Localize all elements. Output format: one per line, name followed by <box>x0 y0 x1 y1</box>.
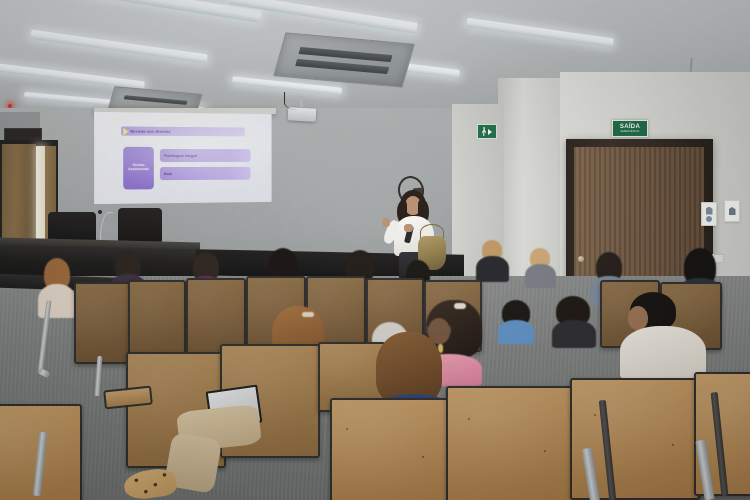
slide-side-box: Direitos Assistenciais <box>123 147 154 190</box>
seat-screw <box>672 444 674 446</box>
chevron-right-icon <box>123 127 128 135</box>
attendee-torso <box>525 264 556 288</box>
slide-title-bar: Revisão dos Direitos <box>121 126 245 136</box>
seat-screw <box>594 414 596 416</box>
seat-back-1[interactable] <box>74 282 130 364</box>
attendee-17 <box>552 296 600 348</box>
attendee-16-face <box>628 306 648 330</box>
attendee-1 <box>36 258 78 318</box>
presenter-left-hand <box>382 218 390 227</box>
attendee-12-body <box>498 320 534 344</box>
exit-sign-saida: SAÍDA EMERGÊNCIA <box>612 120 648 137</box>
seat-screw <box>468 418 470 420</box>
panel-chair-2 <box>118 208 162 242</box>
arrow-right-icon <box>488 129 492 135</box>
seat-screw <box>422 456 424 458</box>
presenter-right-hand <box>404 224 413 232</box>
seat-front-2[interactable] <box>330 398 452 500</box>
exit-sign-sublabel: EMERGÊNCIA <box>621 130 640 133</box>
slide-title: Revisão dos Direitos <box>130 129 170 133</box>
seat-back-2[interactable] <box>128 280 186 362</box>
attendee-torso <box>476 256 509 282</box>
microphone-head-icon <box>98 210 102 214</box>
wall-notice-1 <box>701 202 717 226</box>
seat-screw <box>544 450 546 452</box>
attendee-16 <box>620 292 710 380</box>
attendee-16-body <box>620 326 706 380</box>
attendee-seated-right-far <box>476 240 510 280</box>
seat-front-3[interactable] <box>446 386 576 500</box>
slide-side-box-label: Direitos Assistenciais <box>123 164 154 172</box>
running-man-icon <box>482 127 487 136</box>
projector-cable <box>284 92 307 110</box>
attendee-9-hairclip <box>302 312 314 317</box>
slide-bar-2: Rede <box>160 167 251 180</box>
seat-screw <box>346 428 348 430</box>
information-notice-icon <box>729 207 736 215</box>
slide-bar-1-label: Planilhagem Integral <box>164 153 197 157</box>
projection-screen: Revisão dos Direitos Direitos Assistenci… <box>94 112 271 204</box>
information-notice-icon <box>706 207 713 215</box>
door-knob-icon[interactable] <box>578 256 584 262</box>
attendee-seated-right-far-2 <box>525 248 557 284</box>
exit-sign-running-man <box>477 124 497 139</box>
attendee-17-body <box>552 320 596 348</box>
attendee-1-body <box>38 284 76 318</box>
auditorium-photo: Revisão dos Direitos Direitos Assistenci… <box>0 0 750 500</box>
attendee-11-hairtie <box>454 303 466 309</box>
slide-bar-2-label: Rede <box>164 172 172 176</box>
notice-badge-icon <box>706 216 712 222</box>
attendee-12 <box>498 300 538 344</box>
wall-notice-2 <box>724 200 740 222</box>
slide-bar-1: Planilhagem Integral <box>160 149 251 162</box>
